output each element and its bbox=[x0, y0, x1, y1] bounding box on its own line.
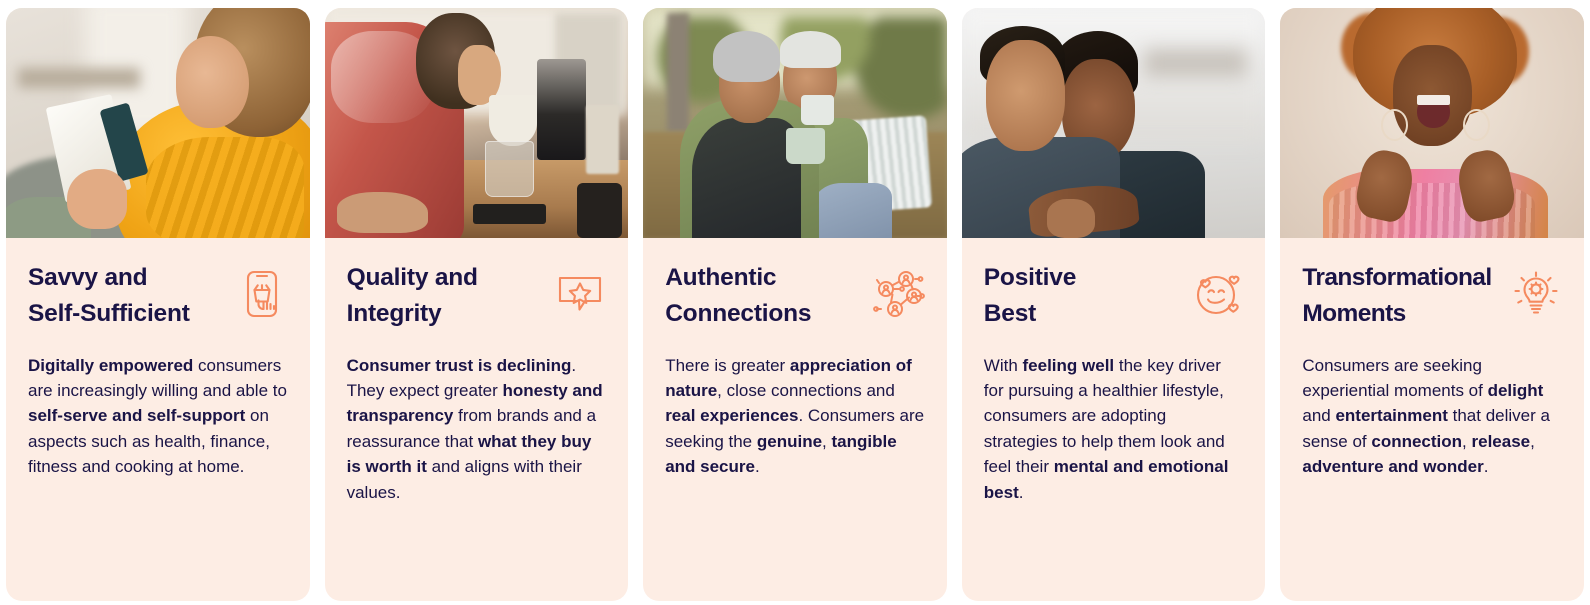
card-description: Consumer trust is declining. They expect… bbox=[347, 353, 607, 505]
speech-bubble-star-icon bbox=[554, 268, 606, 320]
consumer-trends-card-row: Savvy and Self-Sufficient Digitally empo… bbox=[0, 0, 1590, 605]
card-header: Transformational Moments bbox=[1302, 260, 1562, 333]
card-description: Digitally empowered consumers are increa… bbox=[28, 353, 288, 480]
card-body: Transformational Moments Consumers are s… bbox=[1280, 238, 1584, 601]
trend-card-transformational-moments[interactable]: Transformational Moments Consumers are s… bbox=[1280, 8, 1584, 601]
card-header: Positive Best bbox=[984, 260, 1244, 333]
lightbulb-gear-icon bbox=[1510, 268, 1562, 320]
card-body: Authentic Connections bbox=[643, 238, 947, 601]
card-title: Savvy and Self-Sufficient bbox=[28, 260, 190, 333]
card-header: Savvy and Self-Sufficient bbox=[28, 260, 288, 333]
card-title: Transformational Moments bbox=[1302, 260, 1491, 333]
card-header: Quality and Integrity bbox=[347, 260, 607, 333]
card-title: Authentic Connections bbox=[665, 260, 811, 333]
trend-card-authentic-connections[interactable]: Authentic Connections bbox=[643, 8, 947, 601]
card-description: There is greater appreciation of nature,… bbox=[665, 353, 925, 480]
people-network-icon bbox=[873, 268, 925, 320]
card-description: With feeling well the key driver for pur… bbox=[984, 353, 1244, 505]
card-image-authentic-connections bbox=[643, 8, 947, 238]
card-image-transformational-moments bbox=[1280, 8, 1584, 238]
phone-tap-basket-icon bbox=[236, 268, 288, 320]
trend-card-quality-and-integrity[interactable]: Quality and Integrity Consumer trust is … bbox=[325, 8, 629, 601]
card-image-savvy-and-self-sufficient bbox=[6, 8, 310, 238]
card-image-quality-and-integrity bbox=[325, 8, 629, 238]
card-body: Quality and Integrity Consumer trust is … bbox=[325, 238, 629, 601]
card-image-positive-best bbox=[962, 8, 1266, 238]
card-body: Positive Best With feeling well the key … bbox=[962, 238, 1266, 601]
card-header: Authentic Connections bbox=[665, 260, 925, 333]
trend-card-savvy-and-self-sufficient[interactable]: Savvy and Self-Sufficient Digitally empo… bbox=[6, 8, 310, 601]
card-body: Savvy and Self-Sufficient Digitally empo… bbox=[6, 238, 310, 601]
card-description: Consumers are seeking experiential momen… bbox=[1302, 353, 1562, 480]
card-title: Quality and Integrity bbox=[347, 260, 478, 333]
trend-card-positive-best[interactable]: Positive Best With feeling well the key … bbox=[962, 8, 1266, 601]
card-title: Positive Best bbox=[984, 260, 1076, 333]
smiling-face-hearts-icon bbox=[1191, 268, 1243, 320]
